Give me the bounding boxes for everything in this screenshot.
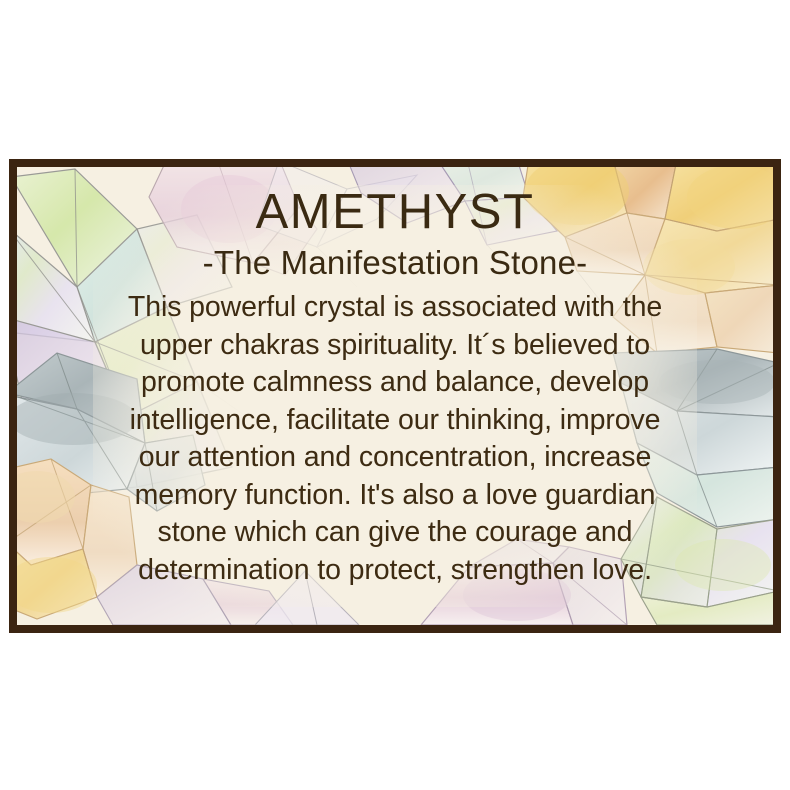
page-title: AMETHYST [17, 175, 773, 239]
page-stage: AMETHYST -The Manifestation Stone- This … [0, 0, 790, 790]
amethyst-info-card: AMETHYST -The Manifestation Stone- This … [9, 159, 781, 633]
description-line: determination to protect, strengthen lov… [55, 552, 735, 590]
card-text-block: AMETHYST -The Manifestation Stone- This … [17, 175, 773, 589]
card-inner-surface: AMETHYST -The Manifestation Stone- This … [17, 167, 773, 625]
card-description: This powerful crystal is associated with… [17, 289, 773, 589]
description-line: intelligence, facilitate our thinking, i… [55, 402, 735, 440]
description-line: memory function. It's also a love guardi… [55, 477, 735, 515]
description-line: This powerful crystal is associated with… [55, 289, 735, 327]
description-line: stone which can give the courage and [55, 514, 735, 552]
description-line: upper chakras spirituality. It´s believe… [55, 327, 735, 365]
description-line: our attention and concentration, increas… [55, 439, 735, 477]
page-subtitle: -The Manifestation Stone- [17, 245, 773, 281]
description-line: promote calmness and balance, develop [55, 364, 735, 402]
